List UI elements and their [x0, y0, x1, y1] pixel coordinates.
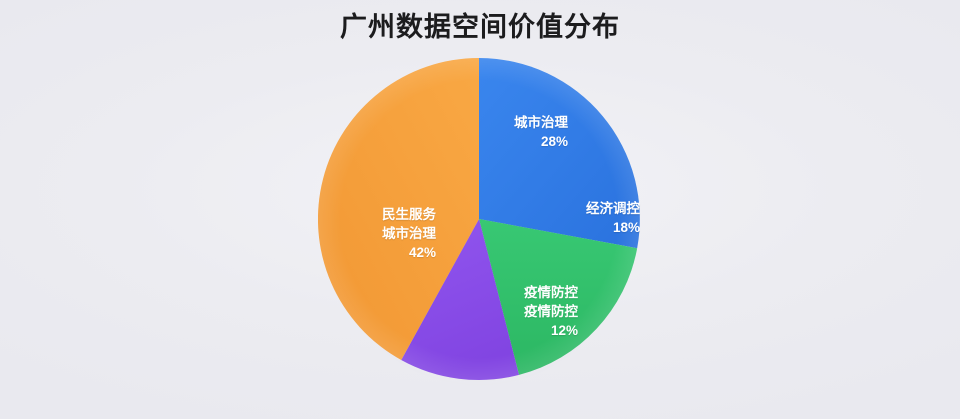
- pie-chart: [318, 58, 640, 380]
- pie-edge-sheen: [318, 58, 640, 380]
- page-title: 广州数据空间价值分布: [0, 10, 960, 44]
- pie-chart-figure: 广州数据空间价值分布: [0, 0, 960, 419]
- pie-slices-svg: [318, 58, 640, 380]
